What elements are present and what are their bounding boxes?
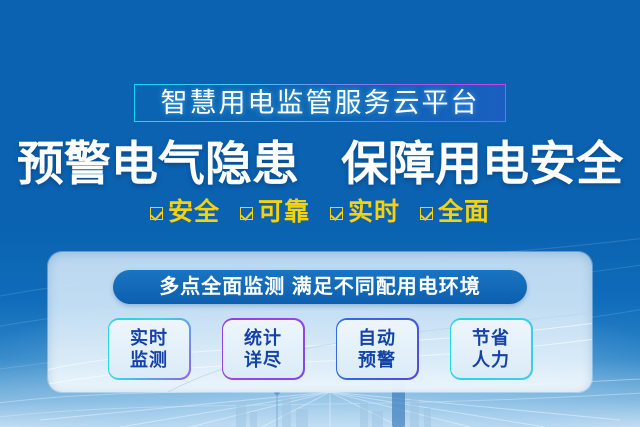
checklist-item-label: 实时 bbox=[348, 200, 400, 225]
feature-card-realtime-monitoring[interactable]: 实时 监测 bbox=[108, 318, 191, 380]
platform-title-text: 智慧用电监管服务云平台 bbox=[161, 90, 480, 117]
panel-banner-pill: 多点全面监测 满足不同配用电环境 bbox=[113, 270, 527, 304]
feature-card-line2: 监测 bbox=[130, 350, 168, 371]
checkbox-checked-icon bbox=[420, 207, 433, 220]
checklist-item-label: 全面 bbox=[438, 200, 490, 225]
feature-card-detailed-statistics[interactable]: 统计 详尽 bbox=[222, 318, 305, 380]
feature-card-line2: 预警 bbox=[358, 350, 396, 371]
checklist-item: 实时 bbox=[330, 200, 400, 225]
page-headline: 预警电气隐患 保障用电安全 bbox=[0, 136, 640, 192]
feature-card-line2: 详尽 bbox=[244, 350, 282, 371]
city-skyline bbox=[236, 396, 431, 427]
feature-card-line1: 统计 bbox=[244, 328, 282, 349]
panel-banner-text: 多点全面监测 满足不同配用电环境 bbox=[159, 277, 481, 297]
checkbox-checked-icon bbox=[330, 207, 343, 220]
feature-card-line1: 节省 bbox=[472, 328, 510, 349]
feature-checklist: 安全 可靠 实时 全面 bbox=[0, 200, 640, 225]
headline-part-1: 预警电气隐患 bbox=[17, 137, 299, 190]
feature-card-auto-alarm[interactable]: 自动 预警 bbox=[336, 318, 419, 380]
checklist-item-label: 可靠 bbox=[258, 200, 310, 225]
checklist-item: 全面 bbox=[420, 200, 490, 225]
checkbox-checked-icon bbox=[240, 207, 253, 220]
platform-title-chip: 智慧用电监管服务云平台 bbox=[134, 84, 506, 122]
poster-canvas: 智慧用电监管服务云平台 预警电气隐患 保障用电安全 安全 可靠 实时 全面 bbox=[0, 0, 640, 427]
feature-card-line1: 自动 bbox=[358, 328, 396, 349]
feature-card-line2: 人力 bbox=[472, 350, 510, 371]
checkbox-checked-icon bbox=[150, 207, 163, 220]
feature-cards: 实时 监测 统计 详尽 自动 预警 节省 人力 bbox=[48, 316, 592, 382]
checklist-item: 可靠 bbox=[240, 200, 310, 225]
feature-card-line1: 实时 bbox=[130, 328, 168, 349]
headline-part-2: 保障用电安全 bbox=[341, 137, 623, 190]
feature-card-save-manpower[interactable]: 节省 人力 bbox=[450, 318, 533, 380]
checklist-item: 安全 bbox=[150, 200, 220, 225]
checklist-item-label: 安全 bbox=[168, 200, 220, 225]
